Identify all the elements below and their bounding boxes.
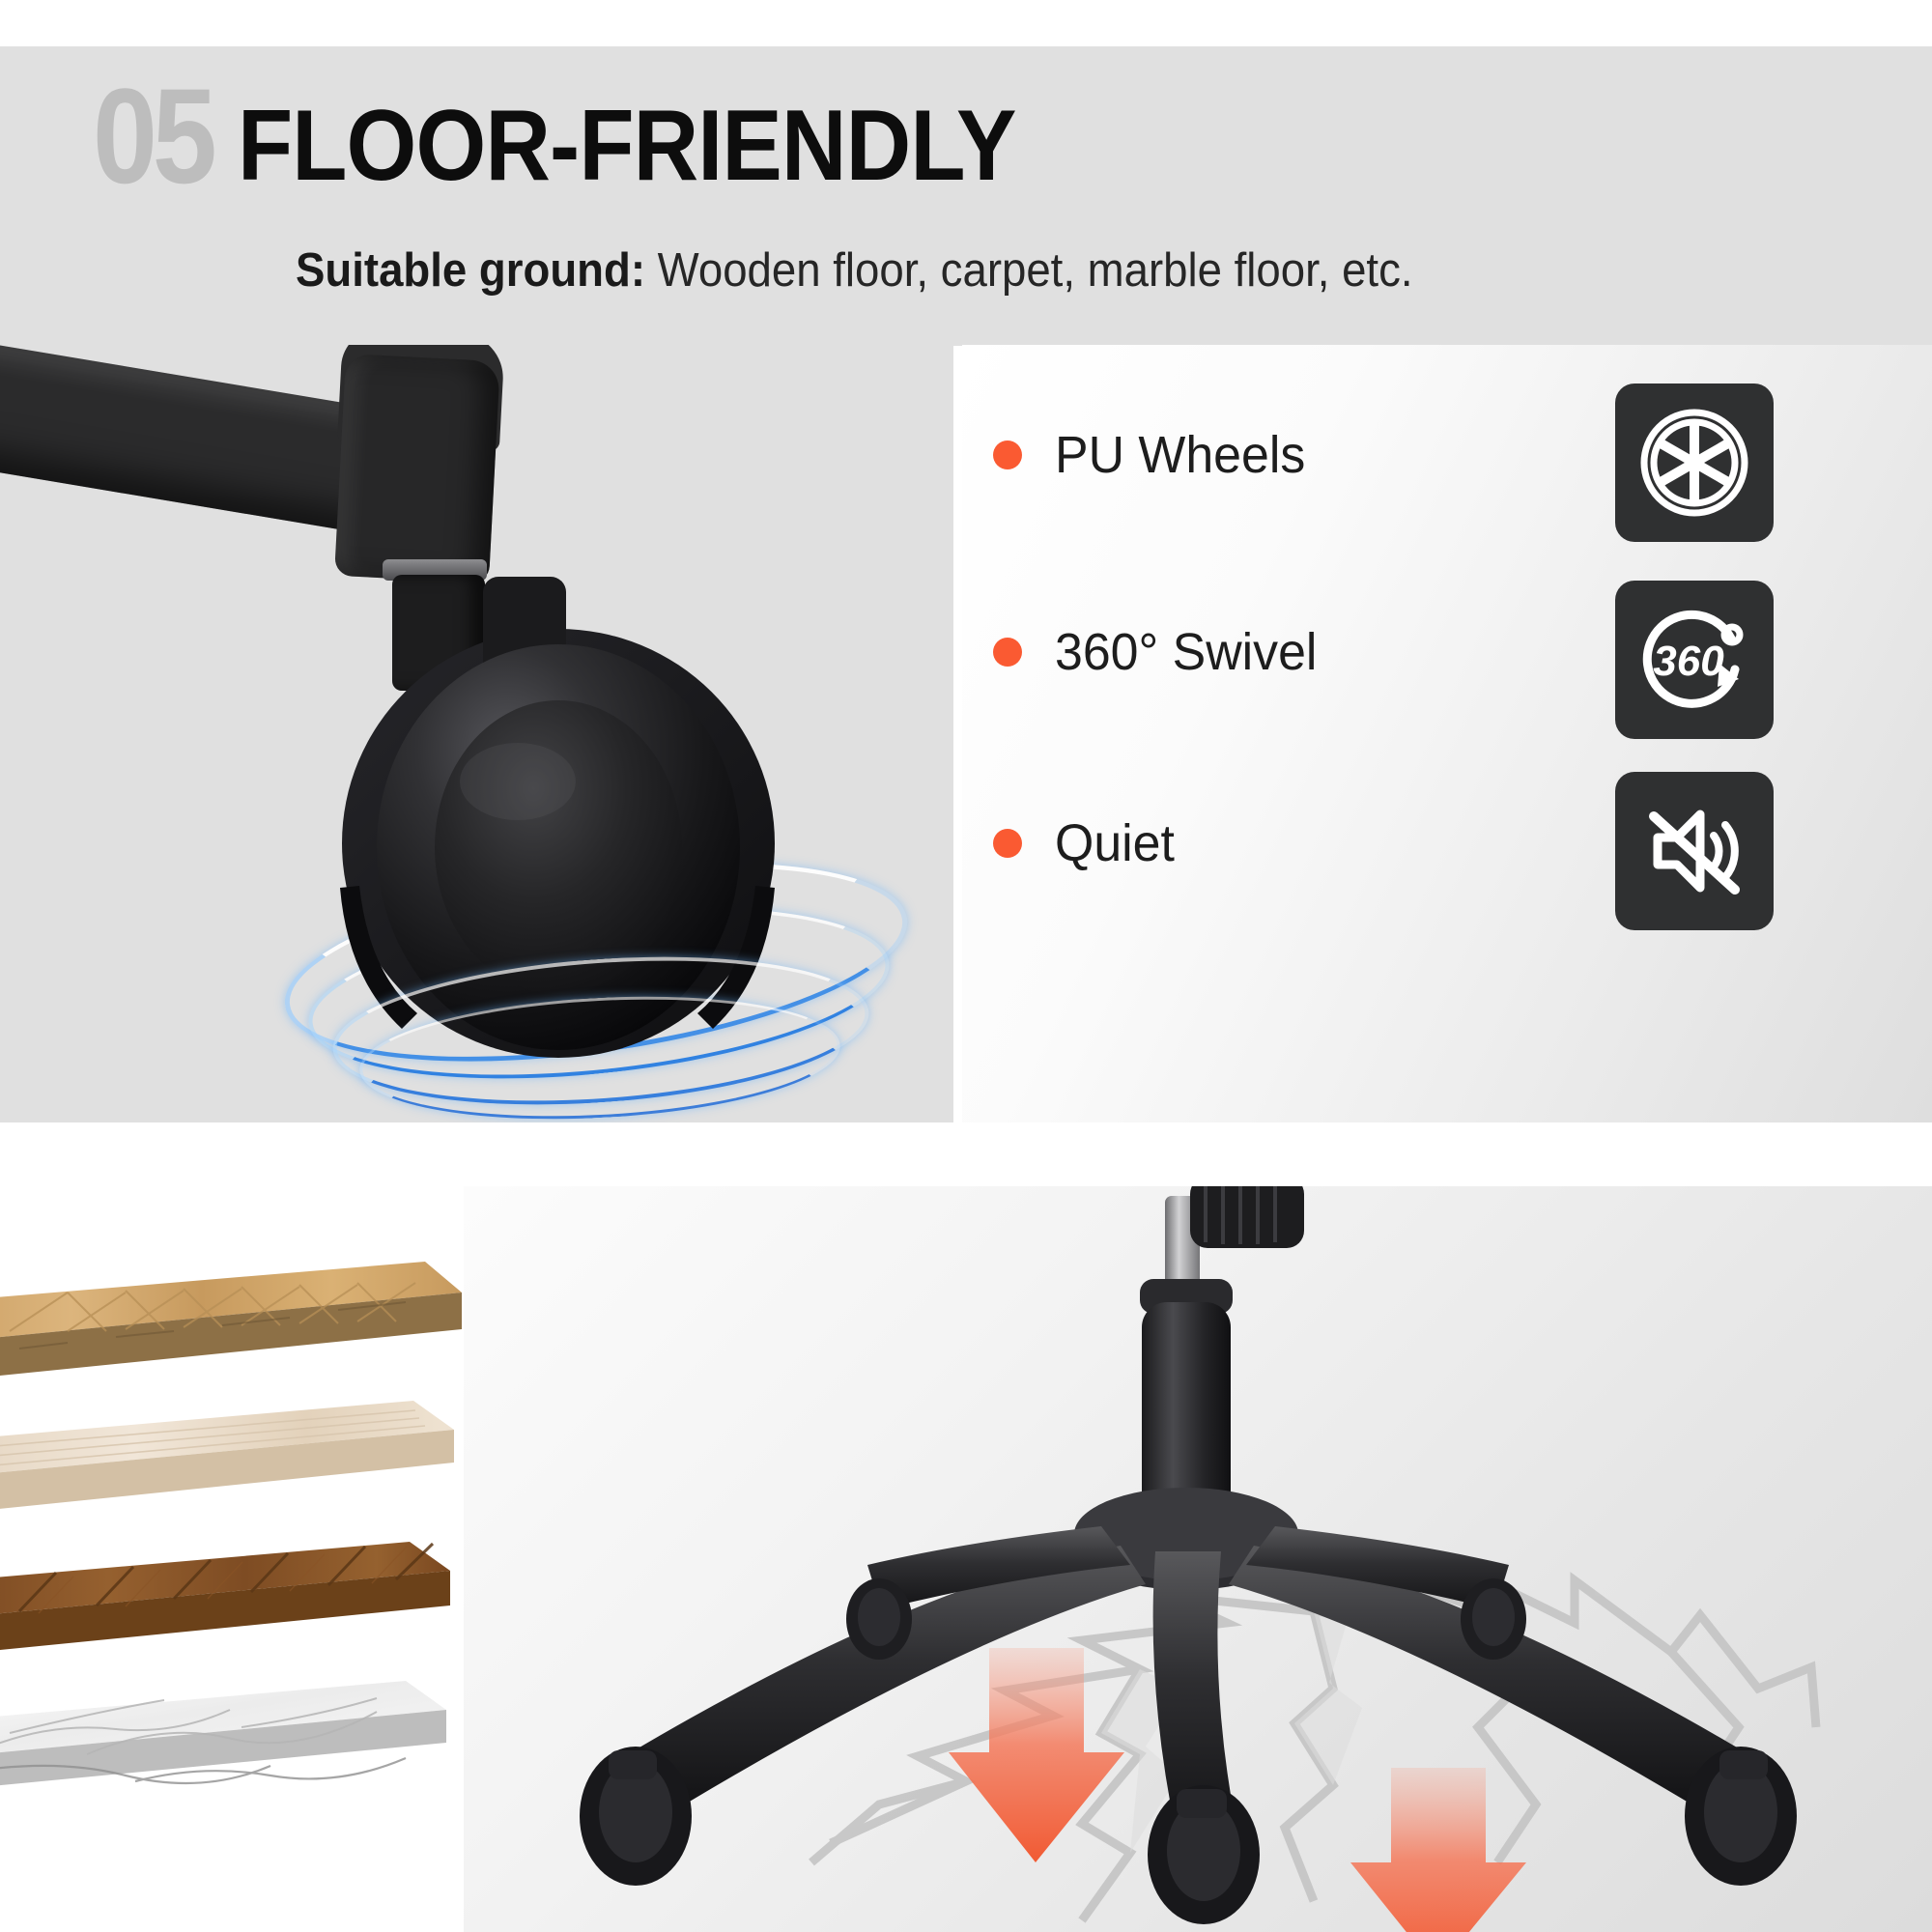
header-title-row: 05 FLOOR-FRIENDLY — [93, 79, 1102, 193]
feature-text-wrap: PU Wheels — [993, 399, 1316, 511]
floor-sample-herringbone-parquet — [0, 1262, 462, 1379]
feature-icon-tile — [1615, 384, 1774, 542]
page-title: FLOOR-FRIENDLY — [238, 100, 1016, 193]
subtitle-label: Suitable ground: — [296, 244, 645, 297]
feature-text-wrap: Quiet — [993, 787, 1179, 899]
header-band: 05 FLOOR-FRIENDLY Suitable ground: Woode… — [0, 46, 1932, 346]
header-subtitle: Suitable ground: Wooden floor, carpet, m… — [296, 243, 1413, 298]
floor-sample-dark-walnut — [0, 1542, 450, 1654]
bullet-icon — [993, 829, 1022, 858]
feature-label: PU Wheels — [1055, 425, 1305, 485]
subtitle-value: Wooden floor, carpet, marble floor, etc. — [645, 244, 1413, 297]
feature-label: 360° Swivel — [1055, 622, 1317, 682]
floor-sample-white-marble — [0, 1681, 446, 1789]
caster-wheel-panel — [0, 345, 953, 1122]
feature-text-wrap: 360° Swivel — [993, 596, 1328, 708]
chair-base-panel — [464, 1186, 1932, 1932]
feature-list: PU Wheels — [962, 345, 1932, 1122]
feature-icon-tile: 360 — [1615, 581, 1774, 739]
floor-samples-panel — [0, 1186, 464, 1932]
feature-label: Quiet — [1055, 813, 1175, 873]
infographic-page: 05 FLOOR-FRIENDLY Suitable ground: Woode… — [0, 0, 1932, 1932]
wheel-icon — [1636, 405, 1752, 521]
rotate-360-icon: 360 — [1634, 600, 1754, 720]
mute-speaker-icon — [1636, 793, 1752, 909]
floor-sample-light-bamboo — [0, 1401, 454, 1513]
floor-material-stack — [0, 1186, 464, 1932]
section-number: 05 — [93, 79, 213, 193]
bullet-icon — [993, 440, 1022, 469]
svg-text:360: 360 — [1653, 638, 1724, 685]
chair-base-illustration — [464, 1186, 1932, 1932]
bullet-icon — [993, 638, 1022, 667]
features-panel: PU Wheels — [962, 345, 1932, 1122]
pressure-arrow-right — [1350, 1768, 1526, 1932]
feature-icon-tile — [1615, 772, 1774, 930]
